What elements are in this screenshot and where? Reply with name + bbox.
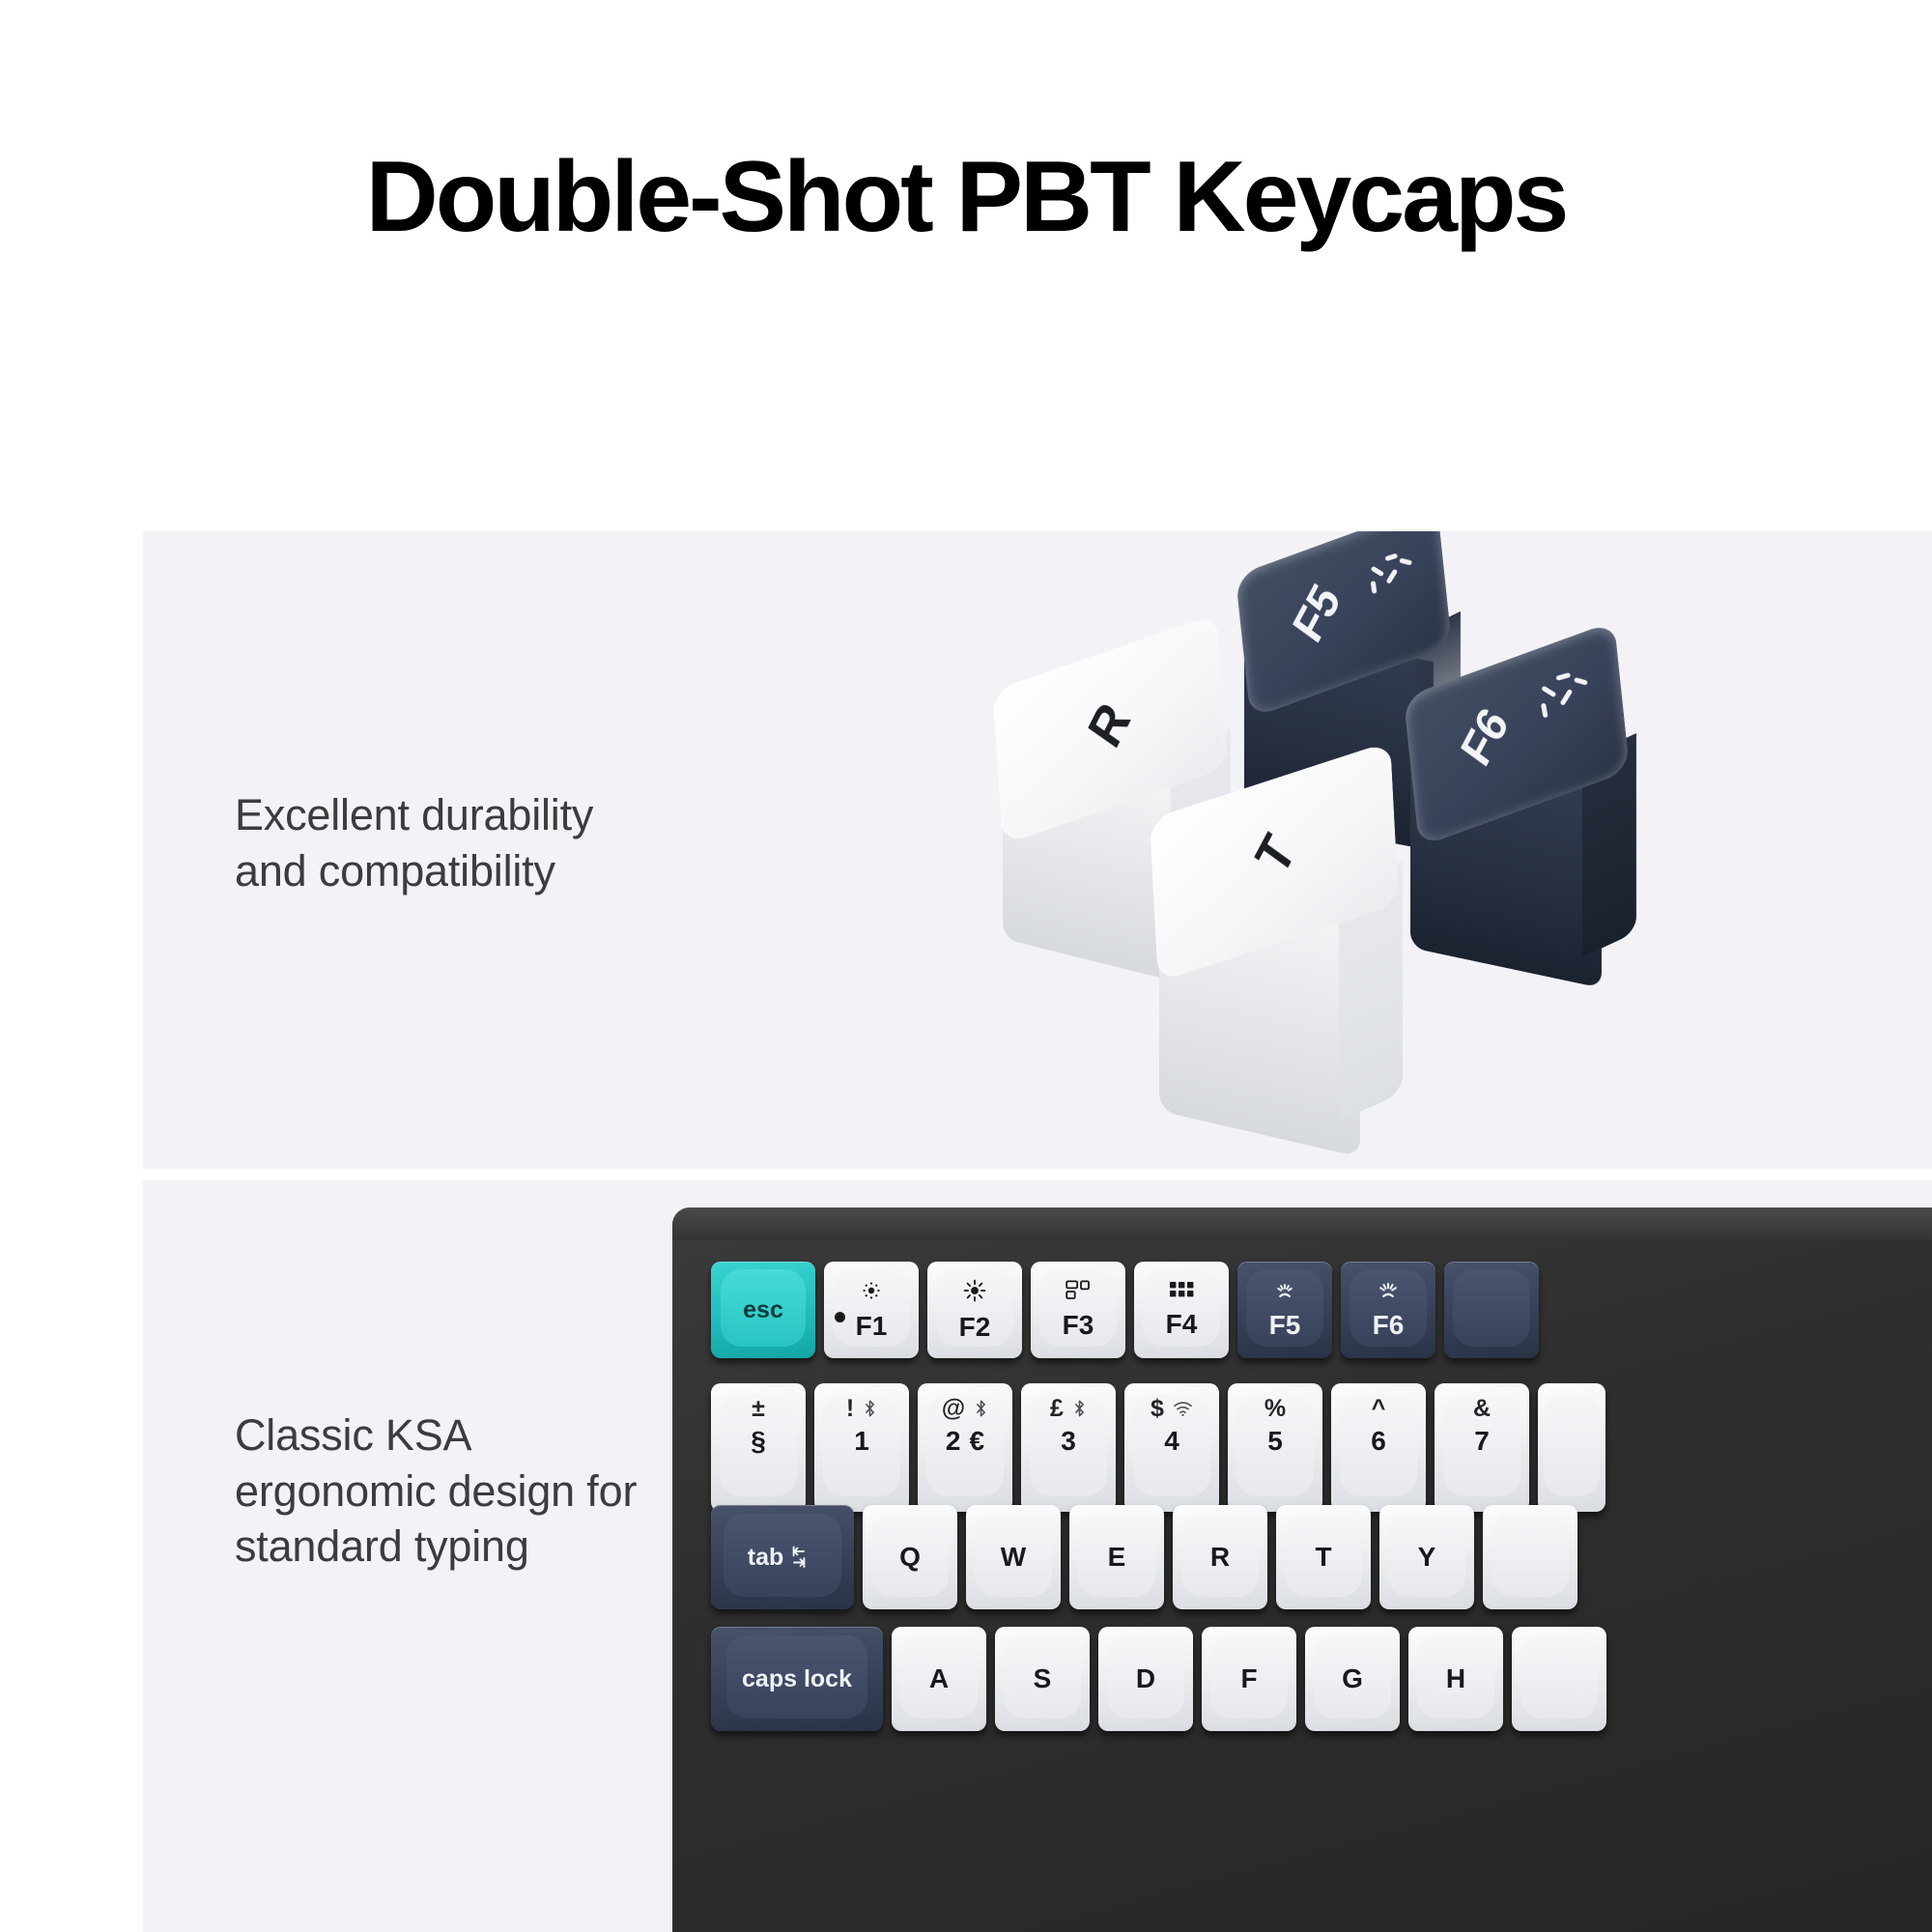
asdf-row-key-caps-lock[interactable]: caps lock bbox=[711, 1627, 883, 1731]
number-row-key-3[interactable]: £ 3 bbox=[1021, 1383, 1116, 1512]
asdf-row-key-d[interactable]: D bbox=[1098, 1627, 1193, 1731]
feature-panel-ksa: Classic KSA ergonomic design for standar… bbox=[143, 1180, 1932, 1932]
keycap-face bbox=[1492, 1514, 1569, 1597]
keycap-label: esc bbox=[743, 1297, 783, 1322]
feature-line-1: Classic KSA bbox=[235, 1407, 637, 1463]
page-title: Double-Shot PBT Keycaps bbox=[0, 145, 1932, 250]
keycap-label: Y bbox=[1418, 1543, 1436, 1571]
feature-text-ksa: Classic KSA ergonomic design for standar… bbox=[235, 1407, 637, 1575]
number-row-key-2[interactable]: @ 2€ bbox=[918, 1383, 1012, 1512]
keycap-label: caps lock bbox=[742, 1666, 852, 1691]
keycap-alt-legend: € bbox=[969, 1427, 984, 1455]
keyboard-image: esc F1 F2 F3 F4 F5 F6 ±§! 1@ 2€£ 3$ 4%5^… bbox=[672, 1207, 1932, 1932]
function-row-key-f6[interactable]: F6 bbox=[1341, 1262, 1435, 1358]
keycap-cluster-image: F5 F6 bbox=[947, 531, 1913, 1157]
keyboard-function-row: esc F1 F2 F3 F4 F5 F6 bbox=[711, 1262, 1548, 1358]
function-row-key-f4[interactable]: F4 bbox=[1134, 1262, 1229, 1358]
asdf-row-key-g[interactable]: G bbox=[1305, 1627, 1400, 1731]
qwerty-row-key-q[interactable]: Q bbox=[863, 1505, 957, 1609]
qwerty-row-key-r[interactable]: R bbox=[1173, 1505, 1267, 1609]
number-row-key-1[interactable]: ! 1 bbox=[814, 1383, 909, 1512]
qwerty-row-key-w[interactable]: W bbox=[966, 1505, 1061, 1609]
keycap-label: F4 bbox=[1166, 1310, 1198, 1338]
number-row-key-§[interactable]: ±§ bbox=[711, 1383, 806, 1512]
keycap-primary-legend: 1 bbox=[854, 1427, 869, 1455]
number-row-key-5[interactable]: %5 bbox=[1228, 1383, 1322, 1512]
keyboard-qwerty-row: tab QWERTY bbox=[711, 1505, 1586, 1609]
function-row-key-f1[interactable]: F1 bbox=[824, 1262, 919, 1358]
keycap-label: D bbox=[1136, 1664, 1155, 1692]
keycap-primary-legend: 7 bbox=[1474, 1427, 1490, 1455]
keycap-shift-legend: $ bbox=[1151, 1396, 1164, 1421]
keycap-face bbox=[1520, 1635, 1598, 1719]
keycap-primary-legend: 3 bbox=[1061, 1427, 1076, 1455]
keycap-label: F1 bbox=[856, 1312, 888, 1340]
keycap-primary-legend: 2 bbox=[946, 1427, 961, 1455]
backlight-increase-icon bbox=[1376, 1280, 1401, 1301]
keycap-label: Q bbox=[899, 1543, 921, 1571]
keycap-label: F3 bbox=[1063, 1311, 1094, 1339]
keycap-label: E bbox=[1108, 1543, 1126, 1571]
keycap-shift-legend: % bbox=[1264, 1396, 1286, 1421]
keycap-shift-legend: ^ bbox=[1372, 1396, 1386, 1421]
qwerty-row-key-blank-7[interactable] bbox=[1483, 1505, 1577, 1609]
product-feature-page: Double-Shot PBT Keycaps Excellent durabi… bbox=[0, 0, 1932, 1932]
keycap-label: F bbox=[1240, 1664, 1257, 1692]
function-row-key-blank-7[interactable] bbox=[1444, 1262, 1539, 1358]
keycap-label: H bbox=[1446, 1664, 1465, 1692]
keycap-label: F6 bbox=[1373, 1311, 1405, 1339]
number-row-key-6[interactable]: ^6 bbox=[1331, 1383, 1426, 1512]
number-row-key-4[interactable]: $ 4 bbox=[1124, 1383, 1219, 1512]
keycap-shift-legend: ! bbox=[846, 1396, 854, 1421]
qwerty-row-key-y[interactable]: Y bbox=[1379, 1505, 1474, 1609]
keycap-label: T bbox=[1315, 1543, 1331, 1571]
keycap-label: S bbox=[1034, 1664, 1052, 1692]
brightness-down-icon bbox=[860, 1279, 883, 1302]
function-row-key-esc[interactable]: esc bbox=[711, 1262, 815, 1358]
keycap-label: F5 bbox=[1269, 1311, 1301, 1339]
keycap-primary-legend: 4 bbox=[1164, 1427, 1179, 1455]
launchpad-icon bbox=[1169, 1281, 1194, 1300]
keycap-face bbox=[1453, 1269, 1530, 1347]
feature-line-2: ergonomic design for bbox=[235, 1463, 637, 1520]
feature-line-1: Excellent durability bbox=[235, 787, 593, 843]
asdf-row-key-f[interactable]: F bbox=[1202, 1627, 1296, 1731]
keycap-shift-legend: & bbox=[1473, 1396, 1491, 1421]
keyboard-asdf-row: caps lockASDFGH bbox=[711, 1627, 1615, 1731]
keycap-t: T bbox=[1140, 761, 1449, 1148]
status-led-indicator bbox=[835, 1312, 845, 1322]
keycap-shift-legend: ± bbox=[752, 1396, 765, 1421]
keycap-label: tab bbox=[748, 1545, 784, 1570]
function-row-key-f3[interactable]: F3 bbox=[1031, 1262, 1125, 1358]
mission-control-icon bbox=[1065, 1280, 1091, 1301]
keycap-label: R bbox=[1210, 1543, 1230, 1571]
keycap-primary-legend: § bbox=[751, 1427, 766, 1455]
keyboard-number-row: ±§! 1@ 2€£ 3$ 4%5^6&7 bbox=[711, 1383, 1614, 1512]
wifi-icon bbox=[1173, 1401, 1193, 1417]
backlight-decrease-icon bbox=[1272, 1280, 1297, 1301]
asdf-row-key-a[interactable]: A bbox=[892, 1627, 986, 1731]
qwerty-row-key-tab[interactable]: tab bbox=[711, 1505, 854, 1609]
function-row-key-f5[interactable]: F5 bbox=[1237, 1262, 1332, 1358]
bluetooth-icon bbox=[974, 1399, 988, 1418]
tab-arrows-icon bbox=[792, 1546, 817, 1569]
qwerty-row-key-e[interactable]: E bbox=[1069, 1505, 1164, 1609]
asdf-row-key-s[interactable]: S bbox=[995, 1627, 1090, 1731]
keycap-primary-legend: 5 bbox=[1267, 1427, 1283, 1455]
keycap-shift-legend: @ bbox=[942, 1396, 965, 1421]
keycap-label: G bbox=[1342, 1664, 1363, 1692]
keycap-label: F2 bbox=[959, 1313, 991, 1341]
bluetooth-icon bbox=[1072, 1399, 1087, 1418]
bluetooth-icon bbox=[863, 1399, 877, 1418]
asdf-row-key-blank-7[interactable] bbox=[1512, 1627, 1606, 1731]
keycap-face bbox=[1544, 1394, 1599, 1496]
function-row-key-f2[interactable]: F2 bbox=[927, 1262, 1022, 1358]
keycap-label: A bbox=[929, 1664, 949, 1692]
qwerty-row-key-t[interactable]: T bbox=[1276, 1505, 1371, 1609]
brightness-up-icon bbox=[962, 1278, 987, 1303]
number-row-key-blank-8[interactable] bbox=[1538, 1383, 1605, 1512]
feature-panel-durability: Excellent durability and compatibility F… bbox=[143, 531, 1932, 1169]
keycap-primary-legend: 6 bbox=[1371, 1427, 1386, 1455]
keycap-label: W bbox=[1001, 1543, 1026, 1571]
keycap-shift-legend: £ bbox=[1050, 1396, 1064, 1421]
asdf-row-key-h[interactable]: H bbox=[1408, 1627, 1503, 1731]
number-row-key-7[interactable]: &7 bbox=[1435, 1383, 1529, 1512]
feature-line-2: and compatibility bbox=[235, 843, 593, 899]
feature-line-3: standard typing bbox=[235, 1519, 637, 1575]
feature-text-durability: Excellent durability and compatibility bbox=[235, 787, 593, 898]
